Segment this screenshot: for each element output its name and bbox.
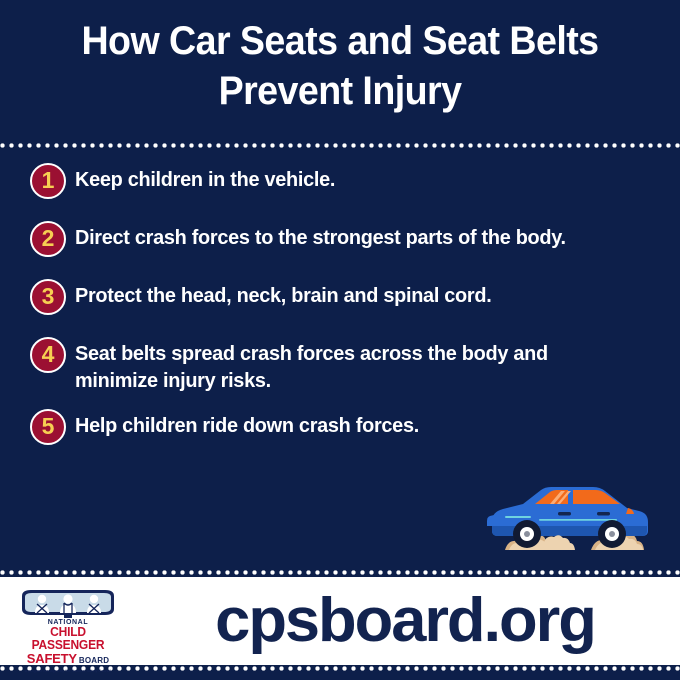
list-item-text: Help children ride down crash forces.	[75, 408, 419, 439]
number-badge-4: 4	[30, 337, 66, 373]
title-line-1: How Car Seats and Seat Belts	[20, 16, 659, 66]
cps-board-logo[interactable]: NATIONAL CHILD PASSENGER SAFETYBOARD A p…	[14, 588, 122, 654]
rearview-mirror-icon	[18, 588, 118, 618]
list-item-line-1: Keep children in the vehicle.	[75, 168, 335, 191]
dotted-divider-footer-top	[0, 570, 680, 575]
list-item-line-1: Help children ride down crash forces.	[75, 414, 419, 437]
logo-board-text: BOARD	[79, 656, 109, 665]
logo-tagline: A program managed by the National Safety…	[14, 669, 122, 673]
car-illustration	[487, 472, 653, 556]
list-item: 5 Help children ride down crash forces.	[30, 408, 670, 452]
logo-safety-text: SAFETY	[27, 651, 77, 666]
list-item-line-2: minimize injury risks.	[75, 367, 548, 394]
number-badge-5: 5	[30, 409, 66, 445]
number-badge-1: 1	[30, 163, 66, 199]
list-item-text: Direct crash forces to the strongest par…	[75, 220, 566, 251]
title-line-2: Prevent Injury	[20, 66, 659, 116]
list-item-line-1: Direct crash forces to the strongest par…	[75, 226, 566, 249]
number-badge-3: 3	[30, 279, 66, 315]
number-badge-2: 2	[30, 221, 66, 257]
benefits-list: 1 Keep children in the vehicle. 2 Direct…	[30, 162, 670, 466]
list-item: 4 Seat belts spread crash forces across …	[30, 336, 670, 394]
list-item-text: Protect the head, neck, brain and spinal…	[75, 278, 491, 309]
logo-safety-row: SAFETYBOARD	[14, 652, 122, 667]
infographic-poster: How Car Seats and Seat Belts Prevent Inj…	[0, 0, 680, 680]
website-url[interactable]: cpsboard.org	[145, 583, 665, 659]
list-item-text: Keep children in the vehicle.	[75, 162, 335, 193]
list-item: 1 Keep children in the vehicle.	[30, 162, 670, 206]
list-item-line-1: Protect the head, neck, brain and spinal…	[75, 284, 491, 307]
logo-child-passenger-text: CHILD PASSENGER	[16, 626, 120, 652]
page-title: How Car Seats and Seat Belts Prevent Inj…	[0, 16, 680, 116]
list-item-text: Seat belts spread crash forces across th…	[75, 336, 548, 394]
list-item: 2 Direct crash forces to the strongest p…	[30, 220, 670, 264]
list-item-line-1: Seat belts spread crash forces across th…	[75, 342, 548, 365]
dotted-divider-top	[0, 143, 680, 148]
list-item: 3 Protect the head, neck, brain and spin…	[30, 278, 670, 322]
